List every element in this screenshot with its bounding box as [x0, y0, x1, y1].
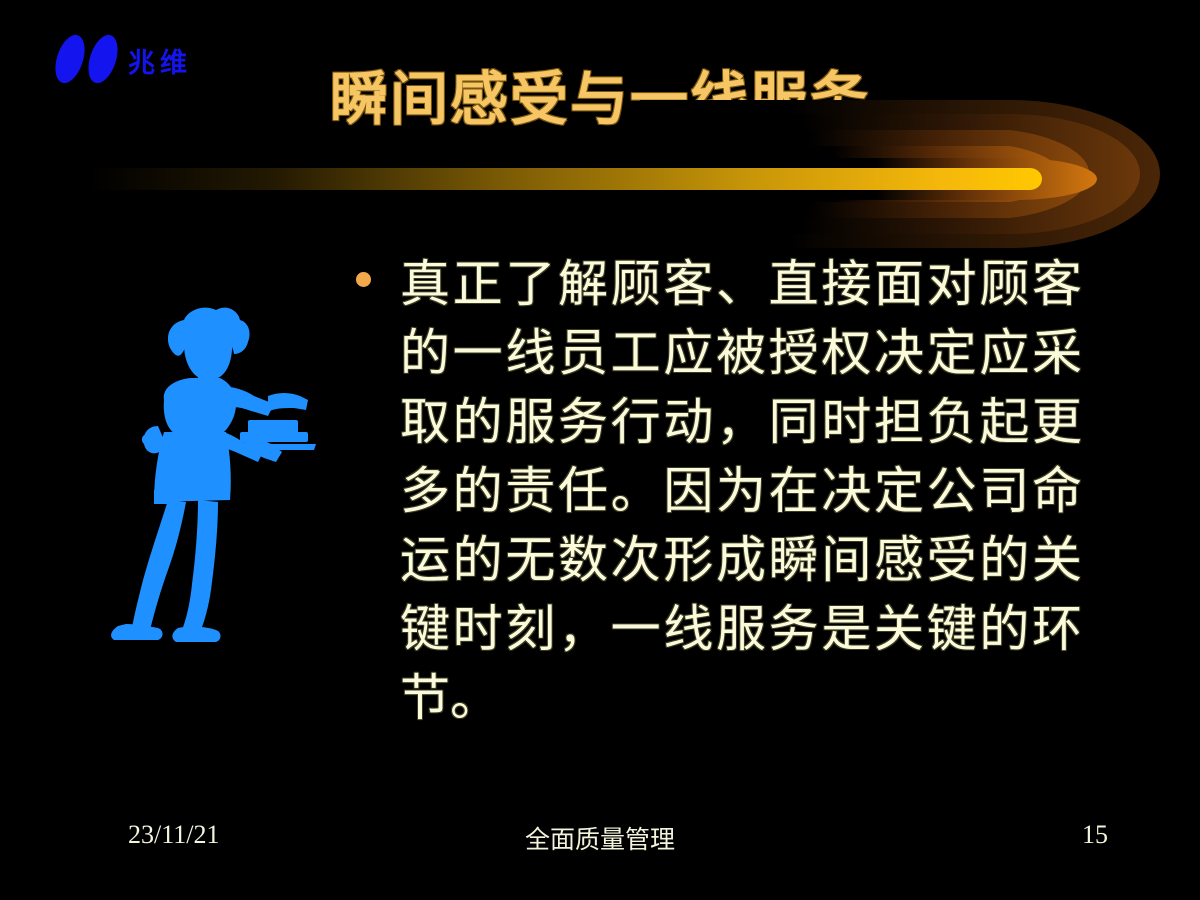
presentation-slide: 兆维 瞬间感受与一线服务	[0, 0, 1200, 900]
slide-title: 瞬间感受与一线服务	[0, 52, 1200, 136]
body-paragraph: 真正了解顾客、直接面对顾客的一线员工应被授权决定应采取的服务行动，同时担负起更多…	[400, 250, 1082, 733]
slide-footer: 23/11/21 全面质量管理 15	[0, 820, 1200, 866]
bullet-marker-icon	[356, 272, 371, 287]
footer-page-number: 15	[1082, 820, 1108, 850]
content-bullet-block: 真正了解顾客、直接面对顾客的一线员工应被授权决定应采取的服务行动，同时担负起更多…	[352, 250, 1082, 733]
footer-title: 全面质量管理	[0, 820, 1200, 856]
waitress-serving-tray-silhouette-icon	[92, 292, 354, 660]
